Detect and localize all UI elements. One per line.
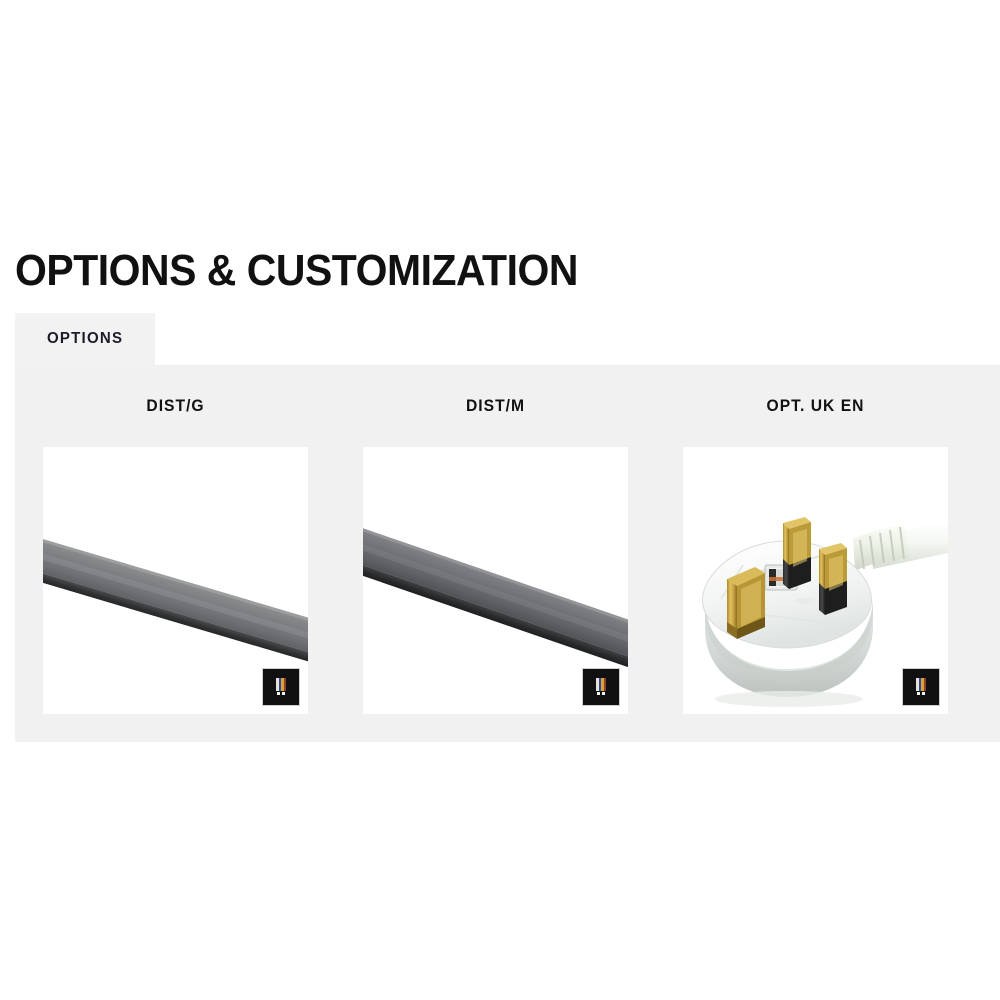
option-item: DIST/G [43,365,308,714]
options-customization-page: OPTIONS & CUSTOMIZATION OPTIONS DIST/G [0,0,1000,1000]
option-item: DIST/M [363,365,628,714]
zoom-badge-icon[interactable] [262,668,300,706]
tab-options[interactable]: OPTIONS [15,313,155,365]
option-label: DIST/G [54,365,298,447]
options-panel: DIST/G [15,365,1000,742]
option-item: OPT. UK EN [683,365,948,714]
zoom-glyph-icon [593,677,609,697]
zoom-badge-icon[interactable] [582,668,620,706]
page-title: OPTIONS & CUSTOMIZATION [15,244,578,298]
option-label: OPT. UK EN [694,365,938,447]
tab-bar: OPTIONS [15,313,1000,365]
option-image-card[interactable] [363,447,628,714]
zoom-glyph-icon [913,677,929,697]
zoom-badge-icon[interactable] [902,668,940,706]
option-label: DIST/M [374,365,618,447]
zoom-glyph-icon [273,677,289,697]
options-grid: DIST/G [43,365,948,714]
option-image-card[interactable] [43,447,308,714]
option-image-card[interactable] [683,447,948,714]
